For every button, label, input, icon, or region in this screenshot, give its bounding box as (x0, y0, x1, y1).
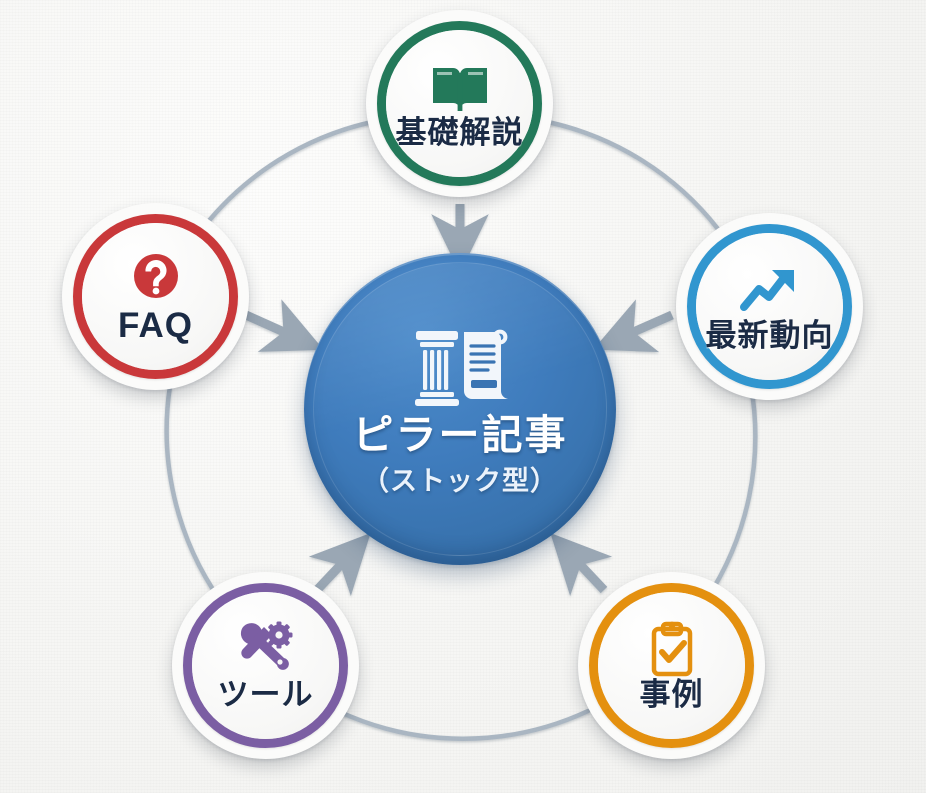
arc-right-bottomright (706, 386, 755, 600)
node-tool[interactable]: ツール (172, 572, 359, 759)
node-faq[interactable]: FAQ (62, 203, 249, 390)
node-label: 事例 (640, 679, 704, 710)
node-label: ツール (218, 679, 314, 710)
node-kiso-kaisetsu[interactable]: 基礎解説 (366, 10, 553, 197)
diagram-canvas: ピラー記事 （ストック型） 基礎解説 最新動向 (0, 0, 926, 793)
arrow-right-to-center (622, 315, 672, 337)
center-node-pillar-article[interactable]: ピラー記事 （ストック型） (304, 253, 616, 565)
arc-top-right (548, 122, 718, 229)
arrow-bottomleft-to-center (317, 556, 349, 590)
arrow-bottomright-to-center (572, 556, 604, 590)
open-book-icon (429, 59, 491, 115)
clipboard-check-icon (641, 621, 703, 677)
arc-bottomleft-left (167, 386, 220, 600)
trending-up-icon (739, 262, 801, 318)
node-jirei[interactable]: 事例 (578, 572, 765, 759)
center-node-title: ピラー記事 (353, 415, 568, 456)
pillar-scroll-icon (412, 323, 508, 407)
center-node-subtitle: （ストック型） (362, 468, 558, 495)
arrow-left-to-center (246, 315, 295, 337)
node-label: 最新動向 (706, 320, 834, 351)
question-mark-icon (125, 250, 187, 306)
arc-bottomright-bottomleft (338, 711, 588, 739)
node-label: FAQ (118, 308, 193, 343)
wrench-gear-icon (235, 621, 297, 677)
node-saishin-doukou[interactable]: 最新動向 (676, 213, 863, 400)
arc-left-top (203, 122, 372, 228)
node-label: 基礎解説 (396, 117, 524, 148)
